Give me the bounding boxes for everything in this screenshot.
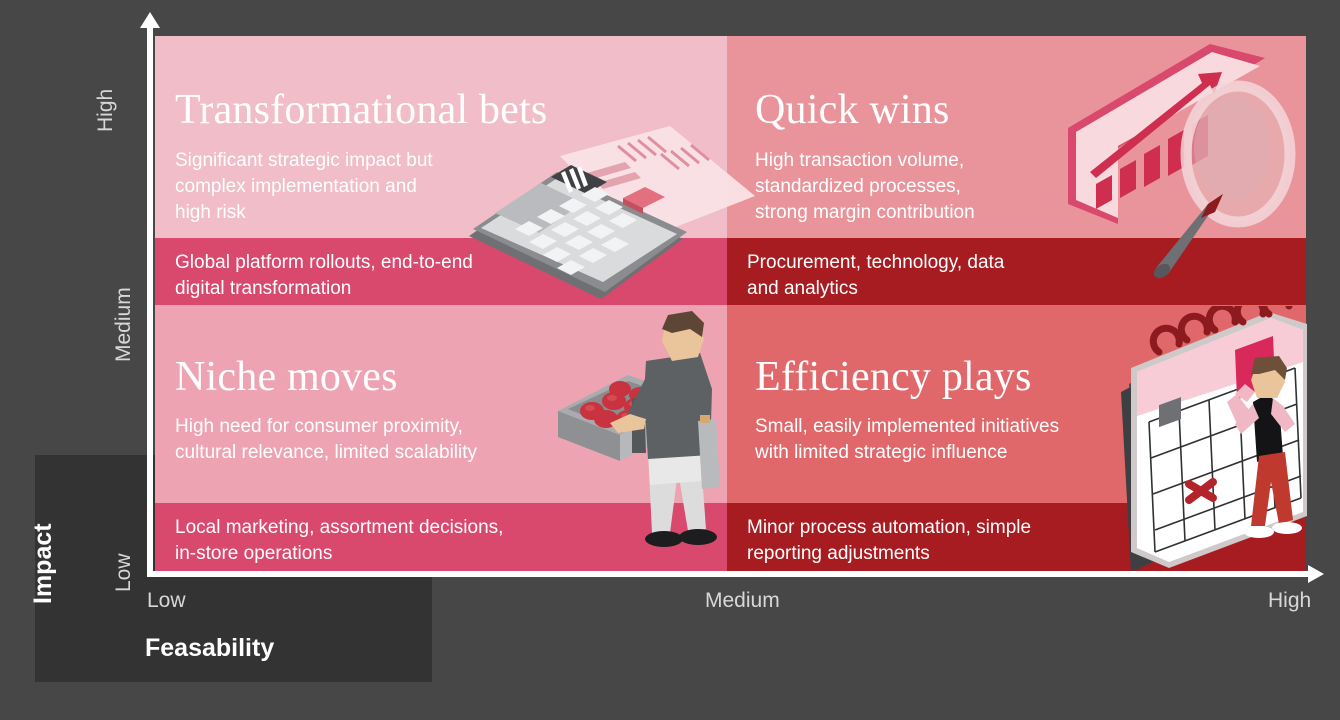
quadrant-title-transformational-bets: Transformational bets: [175, 86, 547, 134]
x-axis-arrow-icon: [1308, 565, 1324, 583]
examples-niche-moves: Local marketing, assortment decisions, i…: [155, 503, 727, 573]
examples-quick-wins: Procurement, technology, data and analyt…: [727, 238, 1306, 305]
quadrant-bg-efficiency-plays: [727, 305, 1306, 503]
y-tick-medium: Medium: [112, 287, 136, 362]
y-axis-title: Impact: [29, 523, 58, 604]
x-axis-title: Feasability: [145, 634, 274, 663]
y-tick-high: High: [94, 89, 118, 132]
examples-efficiency-plays: Minor process automation, simple reporti…: [727, 503, 1306, 573]
quadrant-description-efficiency-plays: Small, easily implemented initiatives wi…: [755, 414, 1059, 466]
examples-text-quick-wins: Procurement, technology, data and analyt…: [747, 250, 1004, 302]
examples-transformational-bets: Global platform rollouts, end-to-end dig…: [155, 238, 727, 305]
x-tick-low: Low: [147, 589, 186, 613]
strategy-matrix-slide: Transformational bets Significant strate…: [0, 0, 1340, 720]
quadrant-description-niche-moves: High need for consumer proximity, cultur…: [175, 414, 477, 466]
quadrant-bg-niche-moves: [155, 305, 727, 503]
quadrant-description-transformational-bets: Significant strategic impact but complex…: [175, 148, 433, 226]
x-axis-line: [147, 571, 1312, 577]
impact-feasability-matrix: Transformational bets Significant strate…: [155, 36, 1306, 573]
y-axis-line: [147, 22, 153, 576]
examples-text-efficiency-plays: Minor process automation, simple reporti…: [747, 515, 1031, 567]
x-tick-medium: Medium: [705, 589, 780, 613]
quadrant-title-efficiency-plays: Efficiency plays: [755, 353, 1032, 401]
y-tick-low: Low: [112, 553, 136, 592]
examples-text-niche-moves: Local marketing, assortment decisions, i…: [175, 515, 503, 567]
quadrant-title-quick-wins: Quick wins: [755, 86, 950, 134]
x-tick-high: High: [1268, 589, 1311, 613]
examples-text-transformational-bets: Global platform rollouts, end-to-end dig…: [175, 250, 473, 302]
quadrant-title-niche-moves: Niche moves: [175, 353, 398, 401]
quadrant-description-quick-wins: High transaction volume, standardized pr…: [755, 148, 975, 226]
